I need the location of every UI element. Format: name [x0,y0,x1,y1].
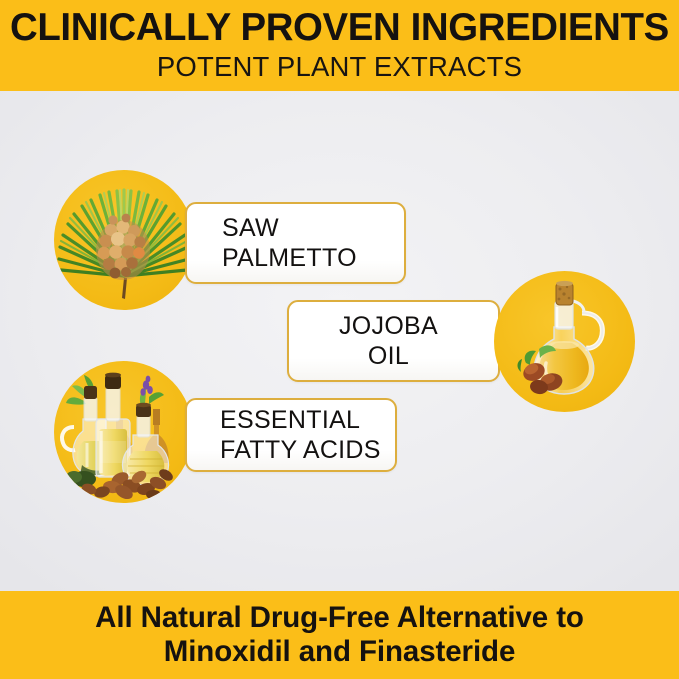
page-title: CLINICALLY PROVEN INGREDIENTS [10,6,669,50]
jojoba-image-circle [494,271,635,412]
jojoba-label-line2: OIL [315,341,498,371]
footer-line-1: All Natural Drug-Free Alternative to [95,601,584,635]
saw-palmetto-label-line2: PALMETTO [222,243,404,273]
ingredients-infographic: CLINICALLY PROVEN INGREDIENTS POTENT PLA… [0,0,679,679]
page-subtitle: POTENT PLANT EXTRACTS [157,51,522,83]
efa-label-card[interactable]: ESSENTIAL FATTY ACIDS [185,398,397,472]
saw-palmetto-image-circle [54,170,194,310]
saw-palmetto-label-line1: SAW [222,213,404,243]
efa-image-circle [54,361,193,503]
efa-label-line2: FATTY ACIDS [220,435,395,465]
oil-bottles-almonds-icon [54,361,193,503]
jojoba-label-card[interactable]: JOJOBA OIL [287,300,500,382]
berry-cluster [96,214,150,280]
footer-line-2: Minoxidil and Finasteride [164,635,516,669]
footer-banner: All Natural Drug-Free Alternative to Min… [0,591,679,679]
palm-frond-berries-icon [54,170,194,310]
header-banner: CLINICALLY PROVEN INGREDIENTS POTENT PLA… [0,0,679,91]
jojoba-label-line1: JOJOBA [315,311,498,341]
efa-label-line1: ESSENTIAL [220,405,395,435]
oil-cruet-jojoba-nuts-icon [494,271,635,412]
saw-palmetto-label-card[interactable]: SAW PALMETTO [185,202,406,284]
